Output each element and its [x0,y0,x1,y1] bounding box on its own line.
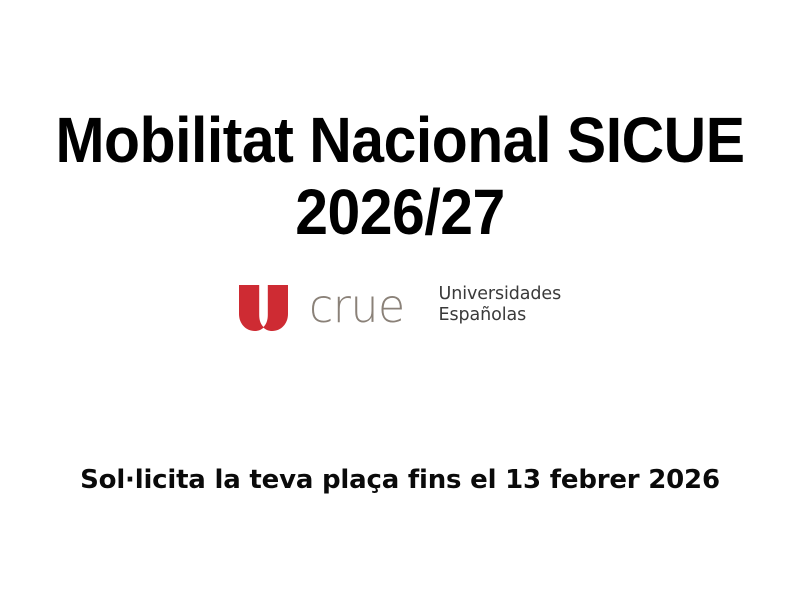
crue-shield-u-icon [239,285,288,331]
crue-wordmark: crue [309,283,405,329]
crue-tagline: Universidades Españolas [439,284,562,326]
page-title-line-1: Mobilitat Nacional SICUE [32,104,768,176]
page-title-line-2: 2026/27 [32,176,768,248]
crue-tagline-line-1: Universidades [439,284,562,305]
call-to-action-text: Sol·licita la teva plaça fins el 13 febr… [0,463,800,497]
crue-logo: crue Universidades Españolas [0,282,800,338]
crue-tagline-line-2: Españolas [439,305,562,326]
crue-logo-lockup: crue Universidades Españolas [239,282,561,334]
poster-slide: Mobilitat Nacional SICUE 2026/27 crue Un… [0,0,800,600]
page-title: Mobilitat Nacional SICUE 2026/27 [0,104,800,248]
